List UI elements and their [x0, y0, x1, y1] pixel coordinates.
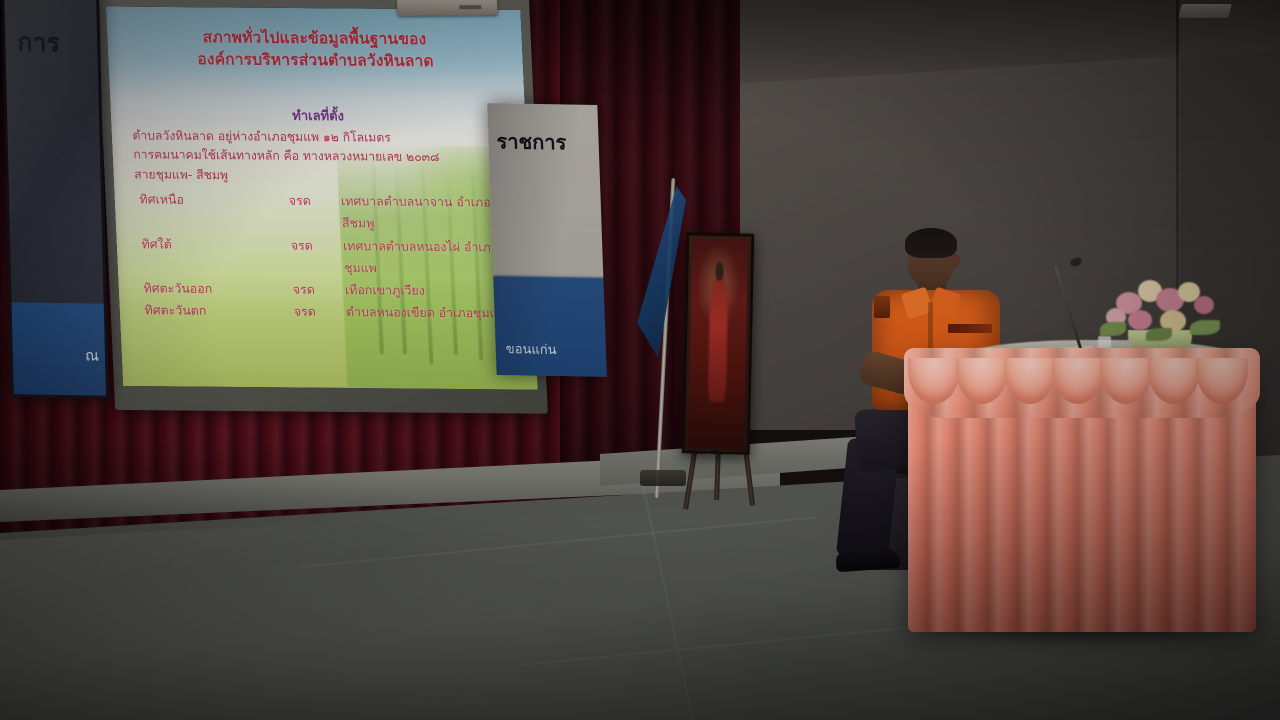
person-ear: [950, 254, 960, 268]
list-item: ทิศตะวันออก จรด เทือกเขาภูเวียง: [143, 277, 517, 302]
slide-subtitle: ทำเลที่ตั้ง: [110, 103, 526, 128]
name-tag: [948, 324, 992, 333]
table-valance: [904, 348, 1260, 418]
presentation-slide: สภาพทั่วไปและข้อมูลพื้นฐานของ องค์การบริ…: [106, 6, 538, 389]
boundary-place: เทศบาลตำบลนาจาน อำเภอสีชมพู: [340, 191, 514, 237]
boundary-joiner: จรด: [288, 190, 341, 213]
flower-bouquet: [1098, 270, 1224, 346]
shoulder-epaulette: [874, 296, 890, 318]
banner-left: การ ณ: [1, 0, 109, 399]
projection-screen: สภาพทั่วไปและข้อมูลพื้นฐานของ องค์การบริ…: [96, 0, 548, 414]
royal-portrait: [682, 232, 755, 454]
photo-scene: สภาพทั่วไปและข้อมูลพื้นฐานของ องค์การบริ…: [0, 0, 1280, 720]
portrait-figure: [708, 272, 729, 402]
boundary-place: เทศบาลตำบลหนองไผ่ อำเภอชุมแพ: [342, 235, 516, 281]
banner-right-shading: [487, 103, 607, 377]
slide-boundary-list: ทิศเหนือ จรด เทศบาลตำบลนาจาน อำเภอสีชมพู…: [139, 189, 518, 325]
boundary-place: ตำบลหนองเขียด อำเภอชุมแพ: [345, 301, 518, 325]
list-item: ทิศตะวันตก จรด ตำบลหนองเขียด อำเภอชุมแพ: [144, 299, 518, 324]
banner-left-sheen: [4, 0, 106, 396]
list-item: ทิศเหนือ จรด เทศบาลตำบลนาจาน อำเภอสีชมพู: [139, 189, 514, 236]
screen-roller-bar: [397, 0, 498, 16]
boundary-direction: ทิศใต้: [141, 233, 291, 256]
slide-body-line-3: สายชุมแพ- สีชมพู: [134, 166, 508, 189]
slide-body: ตำบลวังหินลาด อยู่ห่างอำเภอชุมแพ ๑๒ กิโล…: [132, 126, 508, 188]
slide-text-layer: สภาพทั่วไปและข้อมูลพื้นฐานของ องค์การบริ…: [106, 6, 538, 389]
boundary-place: เทือกเขาภูเวียง: [344, 279, 517, 303]
boundary-direction: ทิศเหนือ: [139, 189, 289, 212]
screen-surface: สภาพทั่วไปและข้อมูลพื้นฐานของ องค์การบริ…: [106, 6, 538, 389]
list-item: ทิศใต้ จรด เทศบาลตำบลหนองไผ่ อำเภอชุมแพ: [141, 233, 516, 280]
boundary-joiner: จรด: [290, 234, 343, 257]
boundary-direction: ทิศตะวันตก: [144, 299, 294, 322]
portrait-image: [688, 238, 748, 448]
person-hair: [905, 228, 957, 258]
boundary-direction: ทิศตะวันออก: [143, 277, 293, 300]
flag-base: [640, 470, 686, 486]
ceiling-light-icon: [1178, 4, 1232, 18]
boundary-joiner: จรด: [292, 278, 345, 301]
slide-title-line-2: องค์การบริหารส่วนตำบลวังหินลาด: [108, 48, 524, 74]
boundary-joiner: จรด: [293, 300, 346, 323]
slide-title: สภาพทั่วไปและข้อมูลพื้นฐานของ องค์การบริ…: [107, 25, 524, 74]
banner-right: ราชการ ขอนแก่น: [487, 103, 607, 377]
